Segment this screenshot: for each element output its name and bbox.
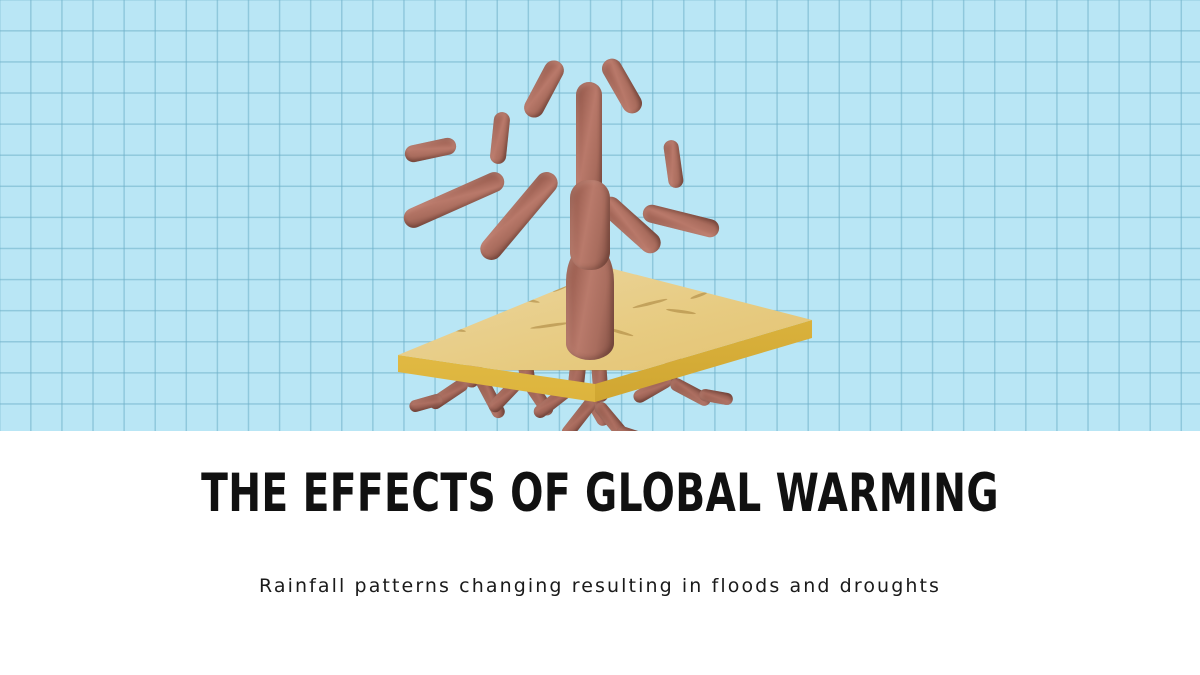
soil-crack — [530, 321, 570, 330]
branch-top-left-fork — [521, 57, 568, 121]
branch-left-tip — [403, 136, 457, 163]
soil-crack — [444, 326, 466, 333]
branch-left-extension — [401, 169, 508, 231]
branch-right-upward-twig — [663, 139, 685, 189]
soil-crack — [690, 291, 708, 300]
page-title: THE EFFECTS OF GLOBAL WARMING — [156, 467, 1044, 520]
root-tip-4 — [615, 425, 653, 431]
page-subtitle: Rainfall patterns changing resulting in … — [0, 577, 1200, 596]
dead-tree-illustration — [380, 40, 830, 431]
soil-crack — [476, 303, 509, 316]
branch-left-upward-twig — [489, 111, 510, 164]
slide-canvas: THE EFFECTS OF GLOBAL WARMING Rainfall p… — [0, 0, 1200, 675]
soil-crack — [512, 295, 540, 304]
soil-crack — [666, 308, 696, 315]
branch-top-right-fork — [598, 55, 645, 117]
hero-graph-paper-band — [0, 0, 1200, 431]
caption-panel: THE EFFECTS OF GLOBAL WARMING Rainfall p… — [0, 431, 1200, 675]
root-fork-4b — [592, 399, 633, 431]
soil-crack — [632, 298, 668, 310]
tree-trunk-upper — [570, 180, 610, 270]
